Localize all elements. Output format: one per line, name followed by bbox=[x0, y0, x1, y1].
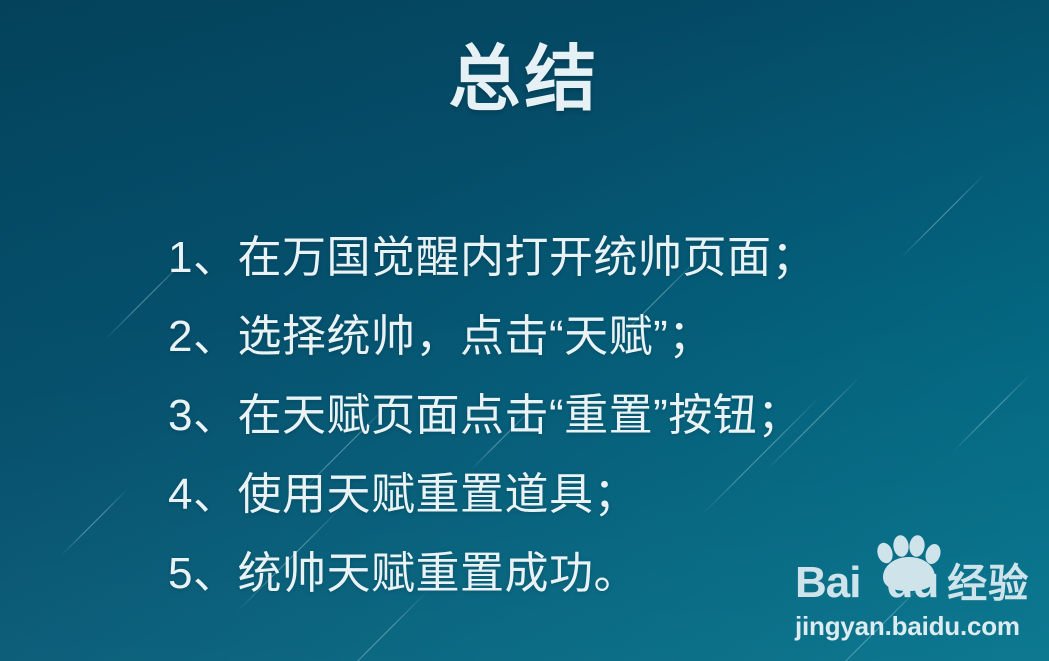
diagonal-streak bbox=[952, 373, 1032, 453]
watermark-brand-first: Bai bbox=[795, 561, 860, 605]
paw-print-icon bbox=[873, 535, 945, 591]
watermark-logo-row: Bai du 经验 bbox=[795, 551, 1031, 605]
page-title: 总结 bbox=[0, 44, 1049, 116]
list-item: 2、选择统帅，点击“天赋”； bbox=[168, 297, 928, 376]
diagonal-streak bbox=[60, 488, 129, 557]
baidu-jingyan-watermark: Bai du 经验 jingyan.baidu.com bbox=[795, 551, 1031, 649]
presentation-slide: 总结 1、在万国觉醒内打开统帅页面； 2、选择统帅，点击“天赋”； 3、在天赋页… bbox=[0, 0, 1049, 661]
list-item: 3、在天赋页面点击“重置”按钮； bbox=[168, 376, 928, 455]
list-item: 4、使用天赋重置道具； bbox=[168, 455, 928, 534]
watermark-url: jingyan.baidu.com bbox=[795, 611, 1031, 641]
watermark-brand-cn: 经验 bbox=[947, 563, 1029, 605]
list-item: 1、在万国觉醒内打开统帅页面； bbox=[168, 218, 928, 297]
